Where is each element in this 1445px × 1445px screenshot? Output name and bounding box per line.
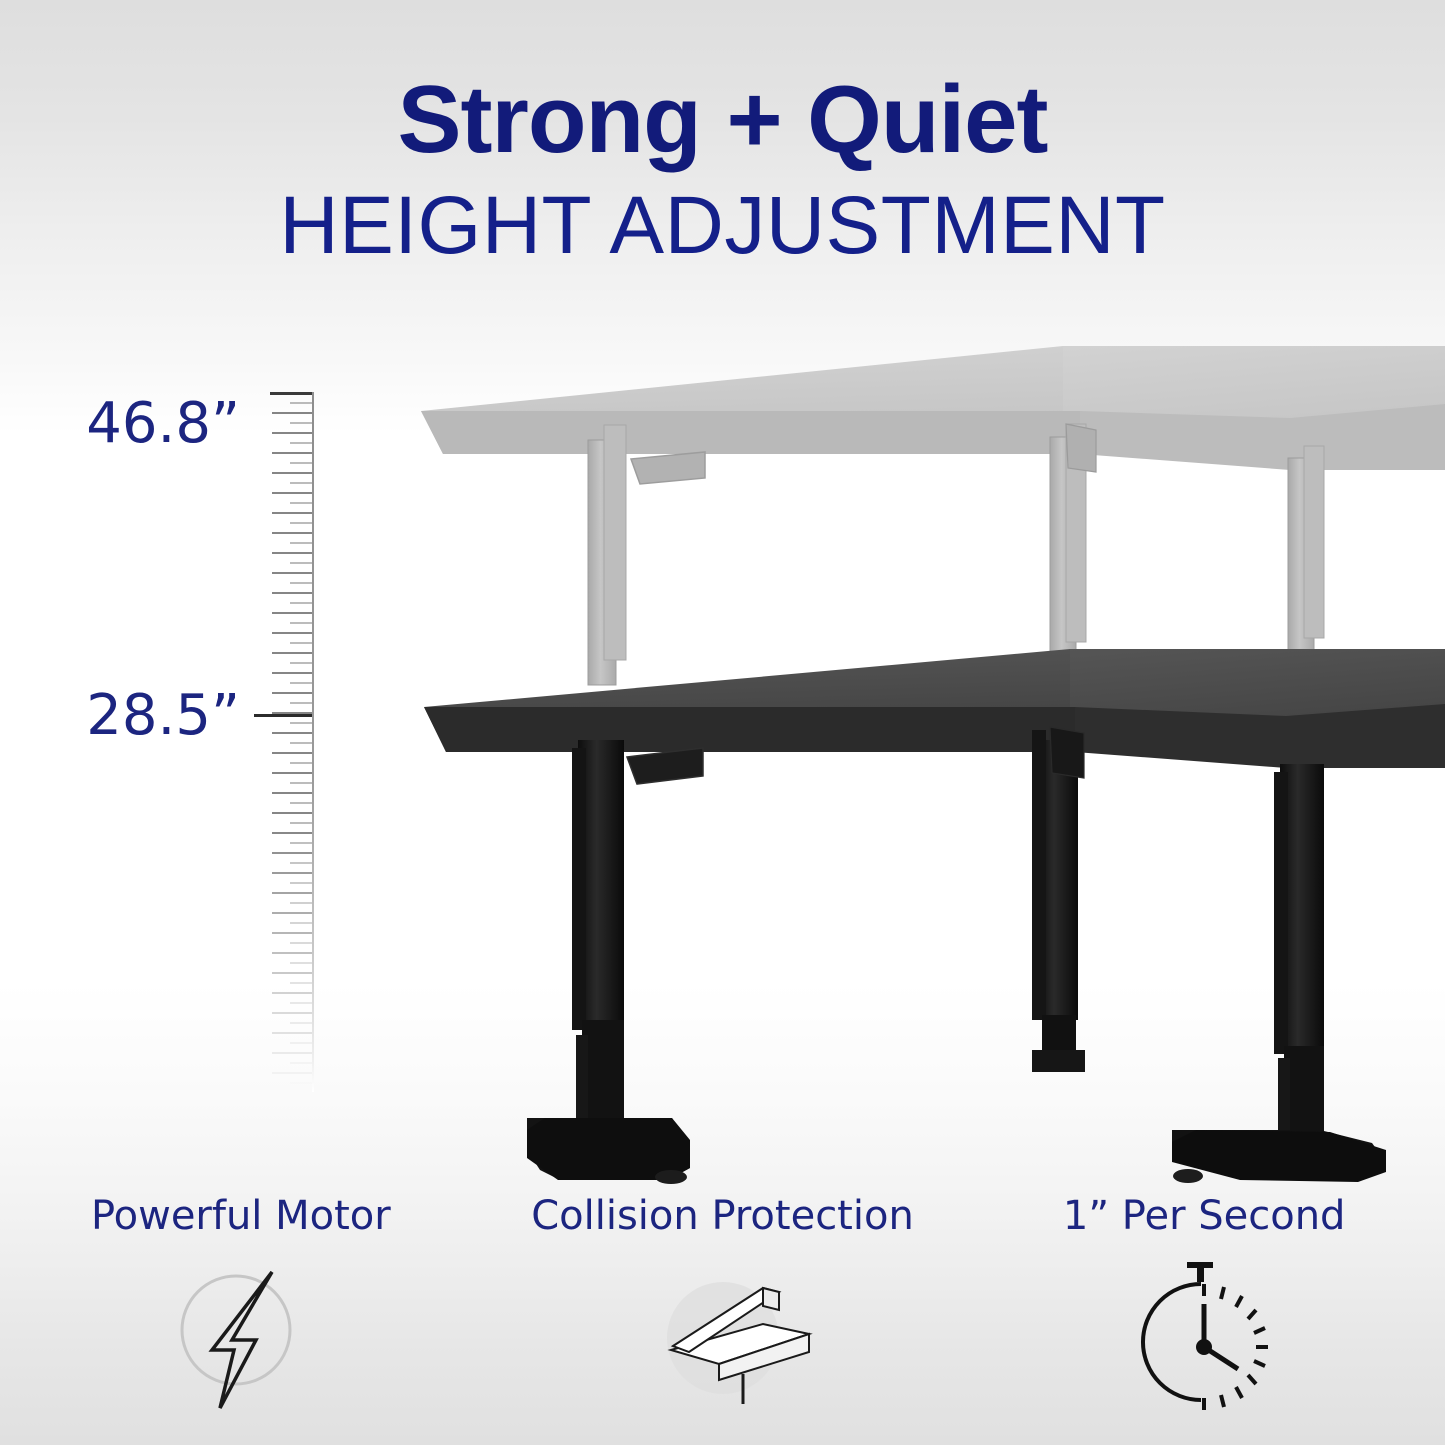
lowered-desk-corner-leg — [1032, 727, 1085, 1072]
feature-collision-protection: Collision Protection — [482, 1196, 964, 1428]
feature-label-speed: 1” Per Second — [963, 1196, 1445, 1236]
ruler-tick-minor — [290, 542, 312, 544]
ruler-tick-minor — [290, 602, 312, 604]
title-block: Strong + Quiet HEIGHT ADJUSTMENT — [0, 72, 1445, 272]
ruler-tick-minor — [290, 742, 312, 744]
ruler-tick-major — [272, 852, 312, 854]
ruler-scale-icon — [256, 392, 314, 1092]
ruler-tick-major — [272, 1072, 312, 1074]
ruler-tick-minor — [290, 662, 312, 664]
stopwatch-icon — [963, 1258, 1445, 1428]
ruler-tick-minor — [290, 762, 312, 764]
lightning-bolt-icon — [0, 1258, 482, 1428]
ruler-tick-major — [272, 1092, 312, 1094]
feature-row: Powerful Motor Collision Protection — [0, 1196, 1445, 1428]
ruler-tick-major — [272, 792, 312, 794]
ruler-tick-major — [272, 492, 312, 494]
feature-label-powerful-motor: Powerful Motor — [0, 1196, 482, 1236]
ruler-tick-major — [272, 1052, 312, 1054]
ruler-tick-minor — [290, 882, 312, 884]
ruler-tick-minor — [290, 1022, 312, 1024]
ruler-tick-major — [272, 972, 312, 974]
ruler-edge — [312, 392, 314, 1092]
feature-powerful-motor: Powerful Motor — [0, 1196, 482, 1428]
ruler-tick-minor — [290, 442, 312, 444]
ruler-tick-major — [272, 452, 312, 454]
ruler-tick-major — [272, 612, 312, 614]
ruler-tick-minor — [290, 842, 312, 844]
ruler-tick-major — [272, 872, 312, 874]
ruler-tick-major — [272, 892, 312, 894]
ruler-tick-minor — [290, 1082, 312, 1084]
min-height-label: 28.5” — [86, 683, 240, 748]
ruler-tick-minor — [290, 622, 312, 624]
ruler-tick-major — [272, 592, 312, 594]
ruler-tick-major — [272, 552, 312, 554]
page-subheadline: HEIGHT ADJUSTMENT — [0, 168, 1445, 272]
ruler-tick-major — [272, 732, 312, 734]
ruler-tick-minor — [290, 942, 312, 944]
ruler-tick-major — [272, 692, 312, 694]
lowered-desk-dark — [424, 649, 1445, 1184]
ruler-tick-minor — [290, 862, 312, 864]
ruler-tick-major — [272, 632, 312, 634]
ruler-tick-major — [272, 572, 312, 574]
ruler-tick-major — [272, 912, 312, 914]
ruler-tick-minor — [290, 962, 312, 964]
ruler-tick-minor — [290, 722, 312, 724]
ruler-tick-major — [272, 672, 312, 674]
ruler-tick-minor — [290, 982, 312, 984]
ruler-tick-major — [272, 392, 312, 394]
ruler-tick-minor — [290, 562, 312, 564]
infographic-page: Strong + Quiet HEIGHT ADJUSTMENT 46.8” 2… — [0, 0, 1445, 1445]
feature-speed: 1” Per Second — [963, 1196, 1445, 1428]
ruler-tick-minor — [290, 802, 312, 804]
collision-plates-icon — [482, 1258, 964, 1428]
ruler-tick-major — [272, 512, 312, 514]
ruler-tick-minor — [290, 502, 312, 504]
ruler-tick-minor — [290, 402, 312, 404]
ruler-tick-minor — [290, 582, 312, 584]
max-height-label: 46.8” — [86, 391, 240, 456]
ruler-tick-minor — [290, 1042, 312, 1044]
ruler-tick-major — [272, 1032, 312, 1034]
ruler-tick-minor — [290, 522, 312, 524]
ruler-tick-minor — [290, 922, 312, 924]
ruler-tick-minor — [290, 462, 312, 464]
ruler-tick-minor — [290, 822, 312, 824]
ruler-tick-major — [272, 652, 312, 654]
ruler-tick-minor — [290, 1062, 312, 1064]
ruler-tick-major — [272, 992, 312, 994]
ruler-tick-minor — [290, 682, 312, 684]
ruler-tick-major — [272, 1012, 312, 1014]
ruler-tick-major — [272, 432, 312, 434]
ruler-tick-minor — [290, 702, 312, 704]
ruler-tick-major — [272, 772, 312, 774]
ruler-tick-minor — [290, 482, 312, 484]
ruler-tick-major — [272, 712, 312, 714]
ruler-tick-major — [272, 952, 312, 954]
ruler-tick-minor — [290, 422, 312, 424]
raised-desk-light — [421, 346, 1445, 685]
lowered-desk-right-leg — [1172, 764, 1386, 1183]
ruler-tick-minor — [290, 782, 312, 784]
ruler-tick-major — [272, 932, 312, 934]
ruler-tick-minor — [290, 642, 312, 644]
page-headline: Strong + Quiet — [0, 72, 1445, 168]
ruler-tick-minor — [290, 1002, 312, 1004]
ruler-tick-major — [272, 532, 312, 534]
ruler-tick-major — [272, 832, 312, 834]
ruler-tick-major — [272, 752, 312, 754]
ruler-tick-major — [272, 412, 312, 414]
ruler-min-height-tick — [254, 714, 312, 717]
feature-label-collision-protection: Collision Protection — [482, 1196, 964, 1236]
ruler-tick-minor — [290, 902, 312, 904]
ruler-tick-major — [272, 812, 312, 814]
ruler-tick-major — [272, 472, 312, 474]
